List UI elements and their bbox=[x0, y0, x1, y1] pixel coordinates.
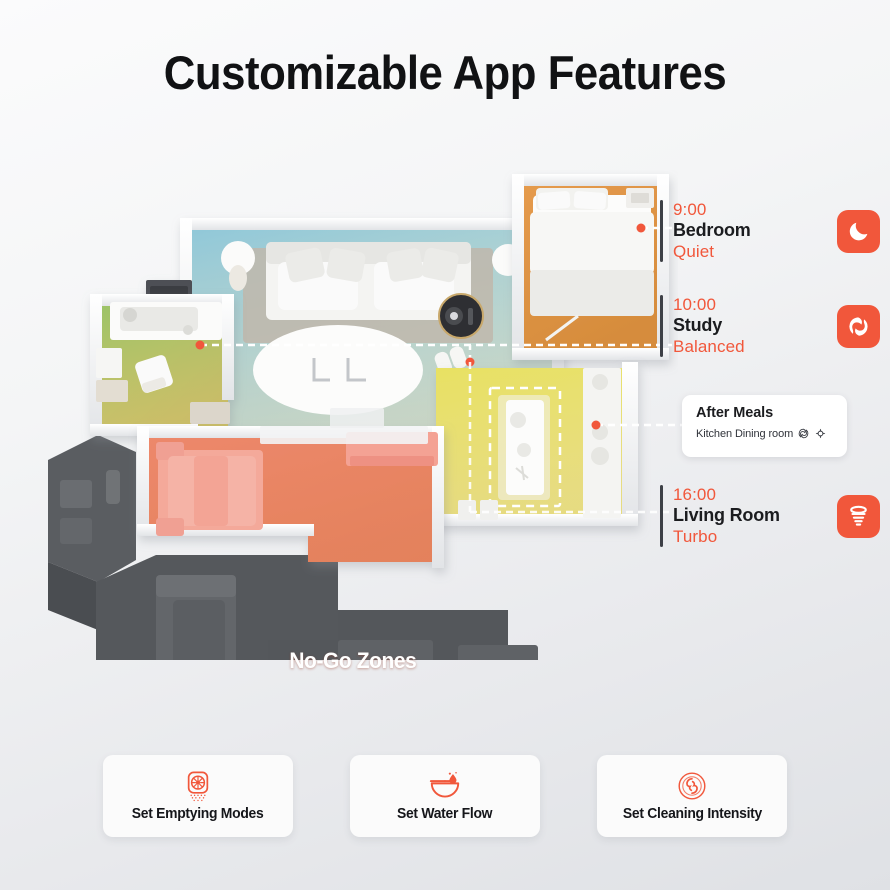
schedule-accent-bar bbox=[660, 485, 663, 547]
feature-card-emptying-modes[interactable]: Set Emptying Modes bbox=[103, 755, 293, 837]
after-meals-rooms-label: Kitchen Dining room bbox=[696, 428, 793, 440]
cleaning-fan-icon bbox=[676, 771, 708, 801]
schedule-room: Study bbox=[673, 315, 829, 336]
after-meals-rooms-row: Kitchen Dining room bbox=[696, 427, 847, 440]
schedule-time: 10:00 bbox=[673, 295, 829, 315]
schedule-item-living-room[interactable]: 16:00 Living Room Turbo bbox=[660, 485, 880, 547]
after-meals-card[interactable]: After Meals Kitchen Dining room bbox=[682, 395, 847, 457]
water-bowl-drop-icon bbox=[427, 771, 463, 801]
mop-water-icon bbox=[814, 427, 827, 440]
schedule-mode: Balanced bbox=[673, 337, 829, 357]
schedule-room: Living Room bbox=[673, 505, 829, 526]
floorplan-map[interactable]: No-Go Zones bbox=[38, 170, 678, 660]
schedule-list: 9:00 Bedroom Quiet 10:00 Study Balanced … bbox=[660, 200, 880, 560]
feature-label: Set Water Flow bbox=[397, 806, 492, 822]
schedule-accent-bar bbox=[660, 200, 663, 262]
moon-icon[interactable] bbox=[837, 210, 880, 253]
schedule-accent-bar bbox=[660, 295, 663, 357]
room-bedroom bbox=[512, 174, 669, 360]
feature-label: Set Emptying Modes bbox=[132, 806, 264, 822]
dust-emptying-icon bbox=[181, 771, 215, 801]
no-go-zones-label: No-Go Zones bbox=[289, 648, 416, 674]
schedule-mode: Turbo bbox=[673, 527, 829, 547]
schedule-item-bedroom[interactable]: 9:00 Bedroom Quiet bbox=[660, 200, 880, 262]
feature-card-water-flow[interactable]: Set Water Flow bbox=[350, 755, 540, 837]
floorplan-illustration bbox=[38, 170, 678, 660]
feature-card-cleaning-intensity[interactable]: Set Cleaning Intensity bbox=[597, 755, 787, 837]
schedule-time: 9:00 bbox=[673, 200, 829, 220]
schedule-mode: Quiet bbox=[673, 242, 829, 262]
room-study bbox=[90, 294, 234, 436]
feature-cards-row: Set Emptying Modes Set Water Flow Set Cl bbox=[0, 755, 890, 837]
schedule-time: 16:00 bbox=[673, 485, 829, 505]
swirl-fan-icon[interactable] bbox=[837, 305, 880, 348]
after-meals-title: After Meals bbox=[696, 405, 847, 421]
robot-vacuum-marker[interactable] bbox=[439, 294, 483, 338]
feature-label: Set Cleaning Intensity bbox=[622, 806, 761, 822]
tornado-icon[interactable] bbox=[837, 495, 880, 538]
schedule-item-study[interactable]: 10:00 Study Balanced bbox=[660, 295, 880, 357]
page-title: Customizable App Features bbox=[31, 45, 859, 100]
schedule-room: Bedroom bbox=[673, 220, 829, 241]
suction-spiral-icon bbox=[797, 427, 810, 440]
